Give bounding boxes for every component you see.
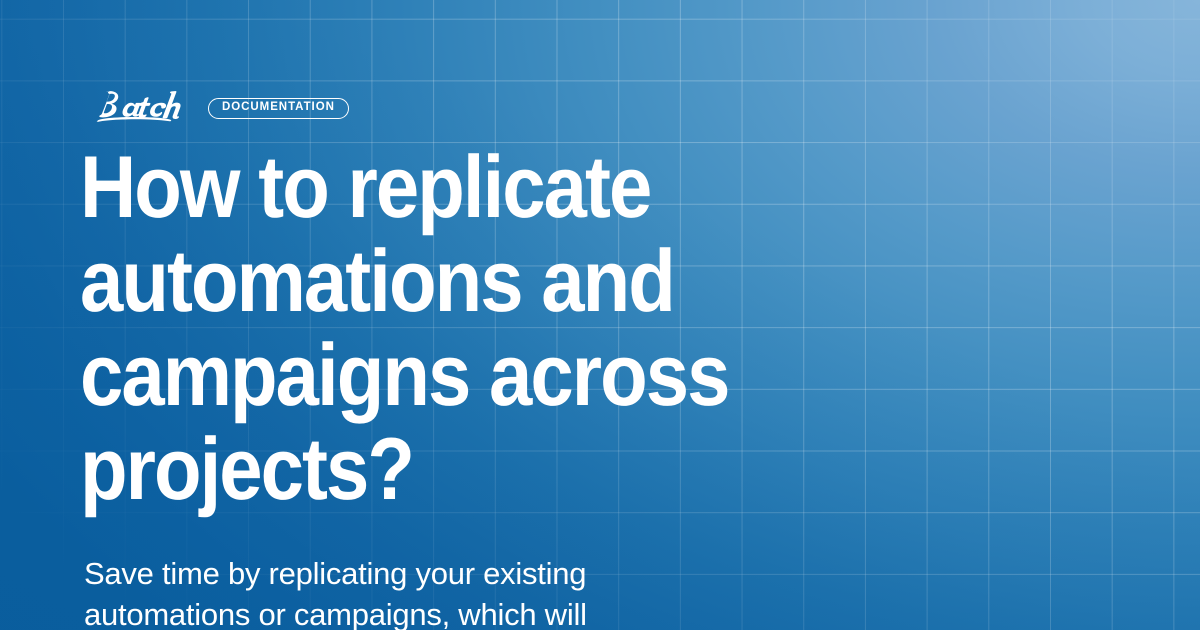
page-title: How to replicate automations and campaig… (80, 140, 965, 516)
headline-line-1: How to replicate (80, 140, 965, 234)
page-subtitle: Save time by replicating your existing a… (84, 553, 864, 630)
documentation-badge[interactable]: DOCUMENTATION (208, 98, 349, 119)
headline-line-2: automations and (80, 234, 965, 328)
batch-logo-icon[interactable] (84, 88, 192, 128)
card-content: DOCUMENTATION How to replicate automatio… (84, 0, 1124, 630)
social-share-card: DOCUMENTATION How to replicate automatio… (0, 0, 1200, 630)
headline-line-4: projects? (80, 422, 965, 516)
subtitle-line-2: automations or campaigns, which will (84, 594, 864, 630)
subtitle-line-1: Save time by replicating your existing (84, 553, 864, 594)
headline-line-3: campaigns across (80, 328, 965, 422)
brand-row: DOCUMENTATION (84, 88, 349, 128)
